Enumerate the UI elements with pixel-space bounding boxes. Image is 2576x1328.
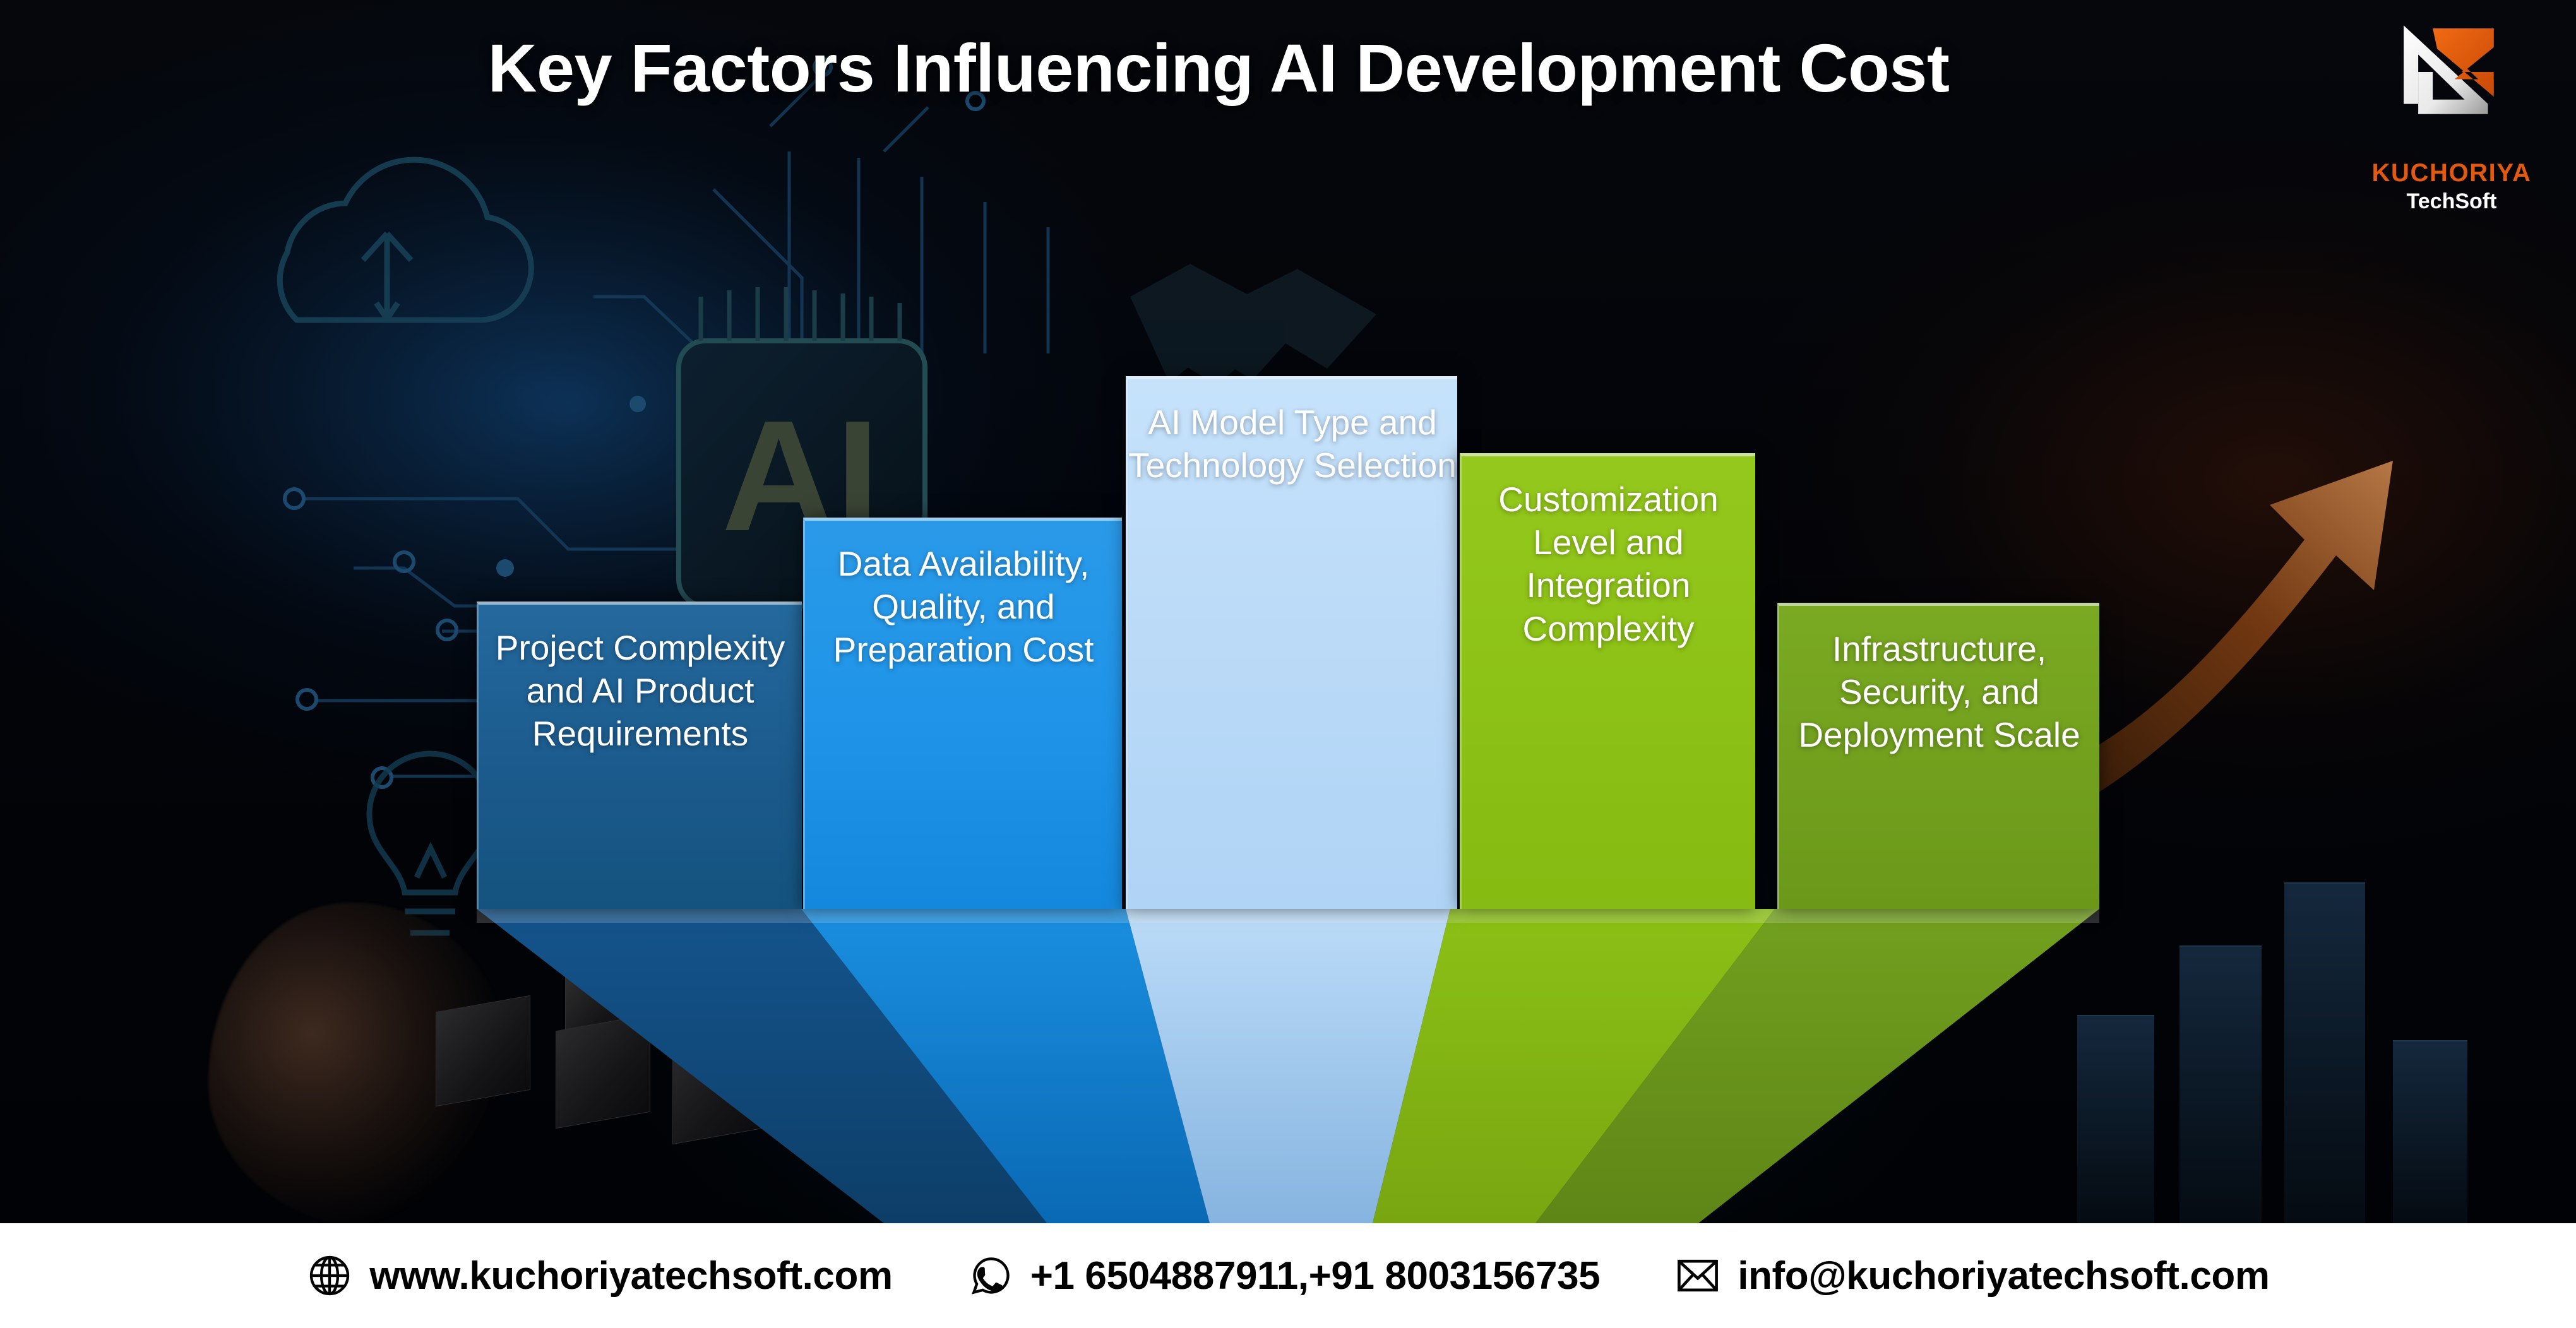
phone-text: +1 6504887911,+91 8003156735	[1030, 1254, 1601, 1298]
funnel-chart: Project Complexity and AI Product Requir…	[0, 0, 2576, 1223]
globe-icon	[306, 1252, 353, 1299]
contact-email[interactable]: info@kuchoriyatechsoft.com	[1674, 1252, 2269, 1299]
whatsapp-icon	[967, 1252, 1014, 1299]
funnel-bar-label: Customization Level and Integration Comp…	[1462, 478, 1755, 650]
funnel-bar[interactable]: Customization Level and Integration Comp…	[1460, 453, 1755, 909]
contact-website[interactable]: www.kuchoriyatechsoft.com	[306, 1252, 892, 1299]
email-text: info@kuchoriyatechsoft.com	[1738, 1254, 2269, 1298]
envelope-icon	[1674, 1252, 1721, 1299]
website-text: www.kuchoriyatechsoft.com	[369, 1254, 892, 1298]
funnel-bar[interactable]: AI Model Type and Technology Selection	[1126, 376, 1457, 909]
funnel-bar[interactable]: Project Complexity and AI Product Requir…	[477, 602, 802, 909]
funnel-bar-label: AI Model Type and Technology Selection	[1128, 401, 1457, 487]
funnel-bar-label: Data Availability, Quality, and Preparat…	[805, 542, 1122, 672]
contact-footer: www.kuchoriyatechsoft.com +1 6504887911,…	[0, 1223, 2576, 1328]
infographic-canvas: AI Key Factors Influe	[0, 0, 2576, 1328]
funnel-bar-label: Project Complexity and AI Product Requir…	[479, 626, 802, 756]
funnel-bar[interactable]: Infrastructure, Security, and Deployment…	[1777, 603, 2099, 909]
funnel-bar-label: Infrastructure, Security, and Deployment…	[1779, 627, 2099, 757]
contact-phone[interactable]: +1 6504887911,+91 8003156735	[967, 1252, 1601, 1299]
funnel-bar[interactable]: Data Availability, Quality, and Preparat…	[803, 518, 1122, 909]
